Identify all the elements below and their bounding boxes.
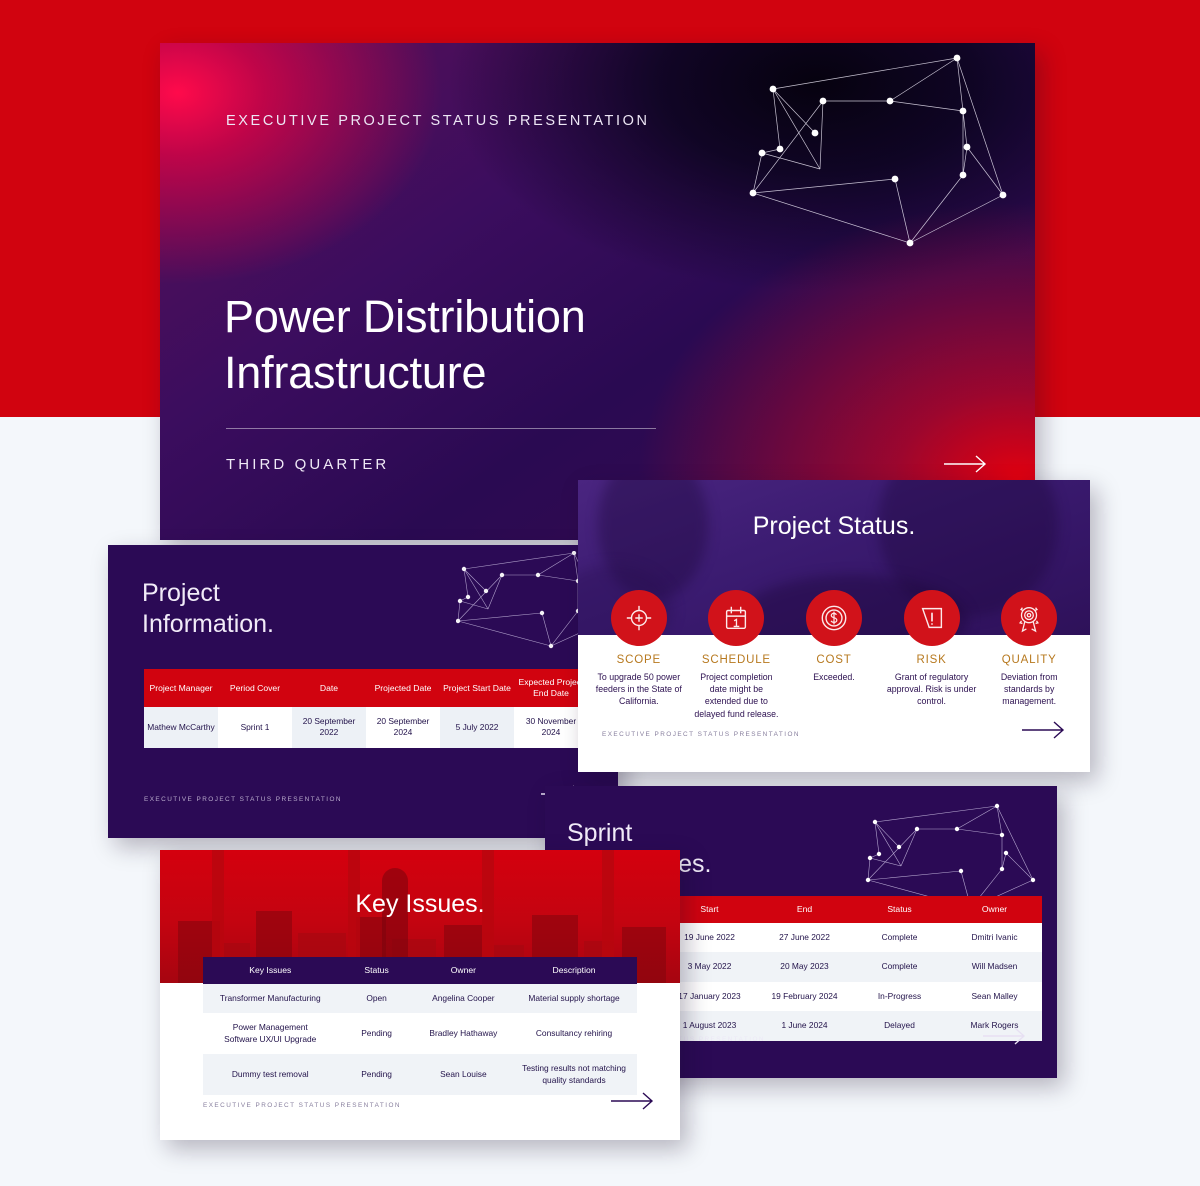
title-divider (226, 428, 656, 429)
status-card-scope[interactable]: SCOPE To upgrade 50 power feeders in the… (590, 590, 688, 720)
table-cell: Pending (338, 1013, 416, 1054)
table-cell: 30 November 2024 (514, 707, 588, 748)
table-cell: Power ManagementSoftware UX/UI Upgrade (203, 1013, 338, 1054)
column-header: Owner (416, 957, 511, 984)
column-header: Status (338, 957, 416, 984)
table-cell: 19 February 2024 (757, 982, 852, 1011)
heading-line-1: Sprint (567, 818, 712, 849)
table-header-row: Start End Status Owner (662, 896, 1042, 923)
table-cell: 5 July 2022 (440, 707, 514, 748)
presentation-mockup-canvas: EXECUTIVE PROJECT STATUS PRESENTATION Po… (0, 0, 1200, 1186)
heading-line-2: Information. (142, 609, 274, 640)
slide-key-issues[interactable]: Key Issues. Key Issues Status Owner Desc… (160, 850, 680, 1140)
table-cell: Complete (852, 923, 947, 952)
column-header: End (757, 896, 852, 923)
status-card-schedule[interactable]: SCHEDULE Project completion date might b… (688, 590, 786, 720)
table-cell: Mathew McCarthy (144, 707, 218, 748)
page-title: Project Status. (578, 512, 1090, 541)
column-header: Period Cover (218, 669, 292, 707)
status-card-title: COST (789, 654, 879, 666)
slide-project-information[interactable]: Project Information. Project Manager Per… (108, 545, 618, 838)
table-cell: Delayed (852, 1011, 947, 1040)
column-header: Key Issues (203, 957, 338, 984)
slide-project-status[interactable]: Project Status. SCOPE To upgrade 50 powe… (578, 480, 1090, 772)
slide-footer: EXECUTIVE PROJECT STATUS PRESENTATION (602, 731, 800, 738)
status-card-title: RISK (887, 654, 977, 666)
status-card-description: Deviation from standards by management. (984, 671, 1074, 708)
table-row: 17 January 2023 19 February 2024 In-Prog… (662, 982, 1042, 1011)
table-cell: Sean Louise (416, 1054, 511, 1095)
table-cell: Angelina Cooper (416, 984, 511, 1013)
table-row: Dummy test removal Pending Sean Louise T… (203, 1054, 637, 1095)
table-header-row: Key Issues Status Owner Description (203, 957, 637, 984)
title-subtitle: THIRD QUARTER (226, 456, 389, 473)
status-card-cost[interactable]: COST Exceeded. (785, 590, 883, 720)
title-line-2: Infrastructure (224, 345, 784, 401)
table-cell: Open (338, 984, 416, 1013)
column-header: Project Start Date (440, 669, 514, 707)
page-title: Project Information. (142, 578, 274, 640)
table-row: Transformer Manufacturing Open Angelina … (203, 984, 637, 1013)
column-header: Owner (947, 896, 1042, 923)
table-cell: Material supply shortage (511, 984, 637, 1013)
status-card-description: Project completion date might be extende… (692, 671, 782, 720)
table-cell: Dmitri Ivanic (947, 923, 1042, 952)
heading-line-1: Project (142, 578, 274, 609)
status-card-quality[interactable]: QUALITY Deviation from standards by mana… (980, 590, 1078, 720)
calendar-icon (708, 590, 764, 646)
title-line-1: Power Distribution (224, 289, 784, 345)
status-card-title: SCHEDULE (692, 654, 782, 666)
sprint-deliverables-table: Start End Status Owner 19 June 2022 27 J… (662, 896, 1042, 1041)
table-cell: Complete (852, 952, 947, 981)
table-cell: 1 June 2024 (757, 1011, 852, 1040)
page-title: Power Distribution Infrastructure (224, 289, 784, 401)
table-row: 19 June 2022 27 June 2022 Complete Dmitr… (662, 923, 1042, 952)
table-cell: 20 September 2022 (292, 707, 366, 748)
table-cell: Transformer Manufacturing (203, 984, 338, 1013)
table-cell: Dummy test removal (203, 1054, 338, 1095)
table-row: 3 May 2022 20 May 2023 Complete Will Mad… (662, 952, 1042, 981)
status-card-title: QUALITY (984, 654, 1074, 666)
column-header: Date (292, 669, 366, 707)
target-crosshair-icon (611, 590, 667, 646)
table-cell: 27 June 2022 (757, 923, 852, 952)
column-header: Description (511, 957, 637, 984)
key-issues-table: Key Issues Status Owner Description Tran… (203, 957, 637, 1095)
award-ribbon-icon (1001, 590, 1057, 646)
status-card-list: SCOPE To upgrade 50 power feeders in the… (590, 590, 1078, 720)
status-card-description: To upgrade 50 power feeders in the State… (594, 671, 684, 708)
table-cell: Sprint 1 (218, 707, 292, 748)
dollar-coin-icon (806, 590, 862, 646)
table-cell: Bradley Hathaway (416, 1013, 511, 1054)
status-card-description: Grant of regulatory approval. Risk is un… (887, 671, 977, 708)
table-row: Mathew McCarthy Sprint 1 20 September 20… (144, 707, 588, 748)
table-cell: Testing results not matchingquality stan… (511, 1054, 637, 1095)
arrow-right-icon[interactable] (943, 453, 989, 475)
table-cell: Will Madsen (947, 952, 1042, 981)
column-header: Status (852, 896, 947, 923)
column-header: Project Manager (144, 669, 218, 707)
page-title: Key Issues. (160, 890, 680, 919)
column-header: Expected Project End Date (514, 669, 588, 707)
table-cell: Consultancy rehiring (511, 1013, 637, 1054)
arrow-right-icon[interactable] (610, 1090, 656, 1112)
column-header: Projected Date (366, 669, 440, 707)
table-cell: Sean Malley (947, 982, 1042, 1011)
table-cell: Pending (338, 1054, 416, 1095)
status-card-title: SCOPE (594, 654, 684, 666)
table-cell: In-Progress (852, 982, 947, 1011)
slide-footer: EXECUTIVE PROJECT STATUS PRESENTATION (203, 1102, 401, 1109)
table-cell: 20 May 2023 (757, 952, 852, 981)
status-card-description: Exceeded. (789, 671, 879, 683)
slide-title-cover[interactable]: EXECUTIVE PROJECT STATUS PRESENTATION Po… (160, 43, 1035, 540)
arrow-right-icon[interactable] (982, 1025, 1028, 1047)
project-information-table: Project Manager Period Cover Date Projec… (144, 669, 588, 748)
status-card-risk[interactable]: RISK Grant of regulatory approval. Risk … (883, 590, 981, 720)
warning-exclamation-icon (904, 590, 960, 646)
title-eyebrow: EXECUTIVE PROJECT STATUS PRESENTATION (226, 113, 650, 129)
slide-footer: EXECUTIVE PROJECT STATUS PRESENTATION (144, 796, 342, 803)
arrow-right-icon[interactable] (1021, 719, 1067, 741)
table-row: Power ManagementSoftware UX/UI Upgrade P… (203, 1013, 637, 1054)
table-header-row: Project Manager Period Cover Date Projec… (144, 669, 588, 707)
table-cell: 20 September 2024 (366, 707, 440, 748)
